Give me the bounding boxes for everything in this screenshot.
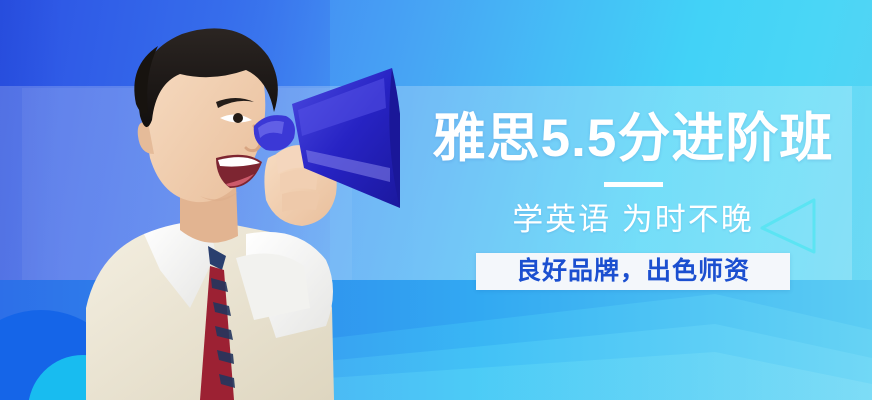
banner-badge-text: 良好品牌，出色师资 xyxy=(516,258,750,285)
banner-badge: 良好品牌，出色师资 xyxy=(476,253,790,290)
presenter-photo xyxy=(40,8,400,400)
banner-headline: 雅思5.5分进阶班 xyxy=(418,108,848,170)
course-promo-banner: 雅思5.5分进阶班 学英语 为时不晚 良好品牌，出色师资 xyxy=(0,0,872,400)
banner-subline: 学英语 为时不晚 xyxy=(418,201,848,239)
headline-divider xyxy=(604,182,663,187)
banner-copy-block: 雅思5.5分进阶班 学英语 为时不晚 良好品牌，出色师资 xyxy=(418,108,848,290)
